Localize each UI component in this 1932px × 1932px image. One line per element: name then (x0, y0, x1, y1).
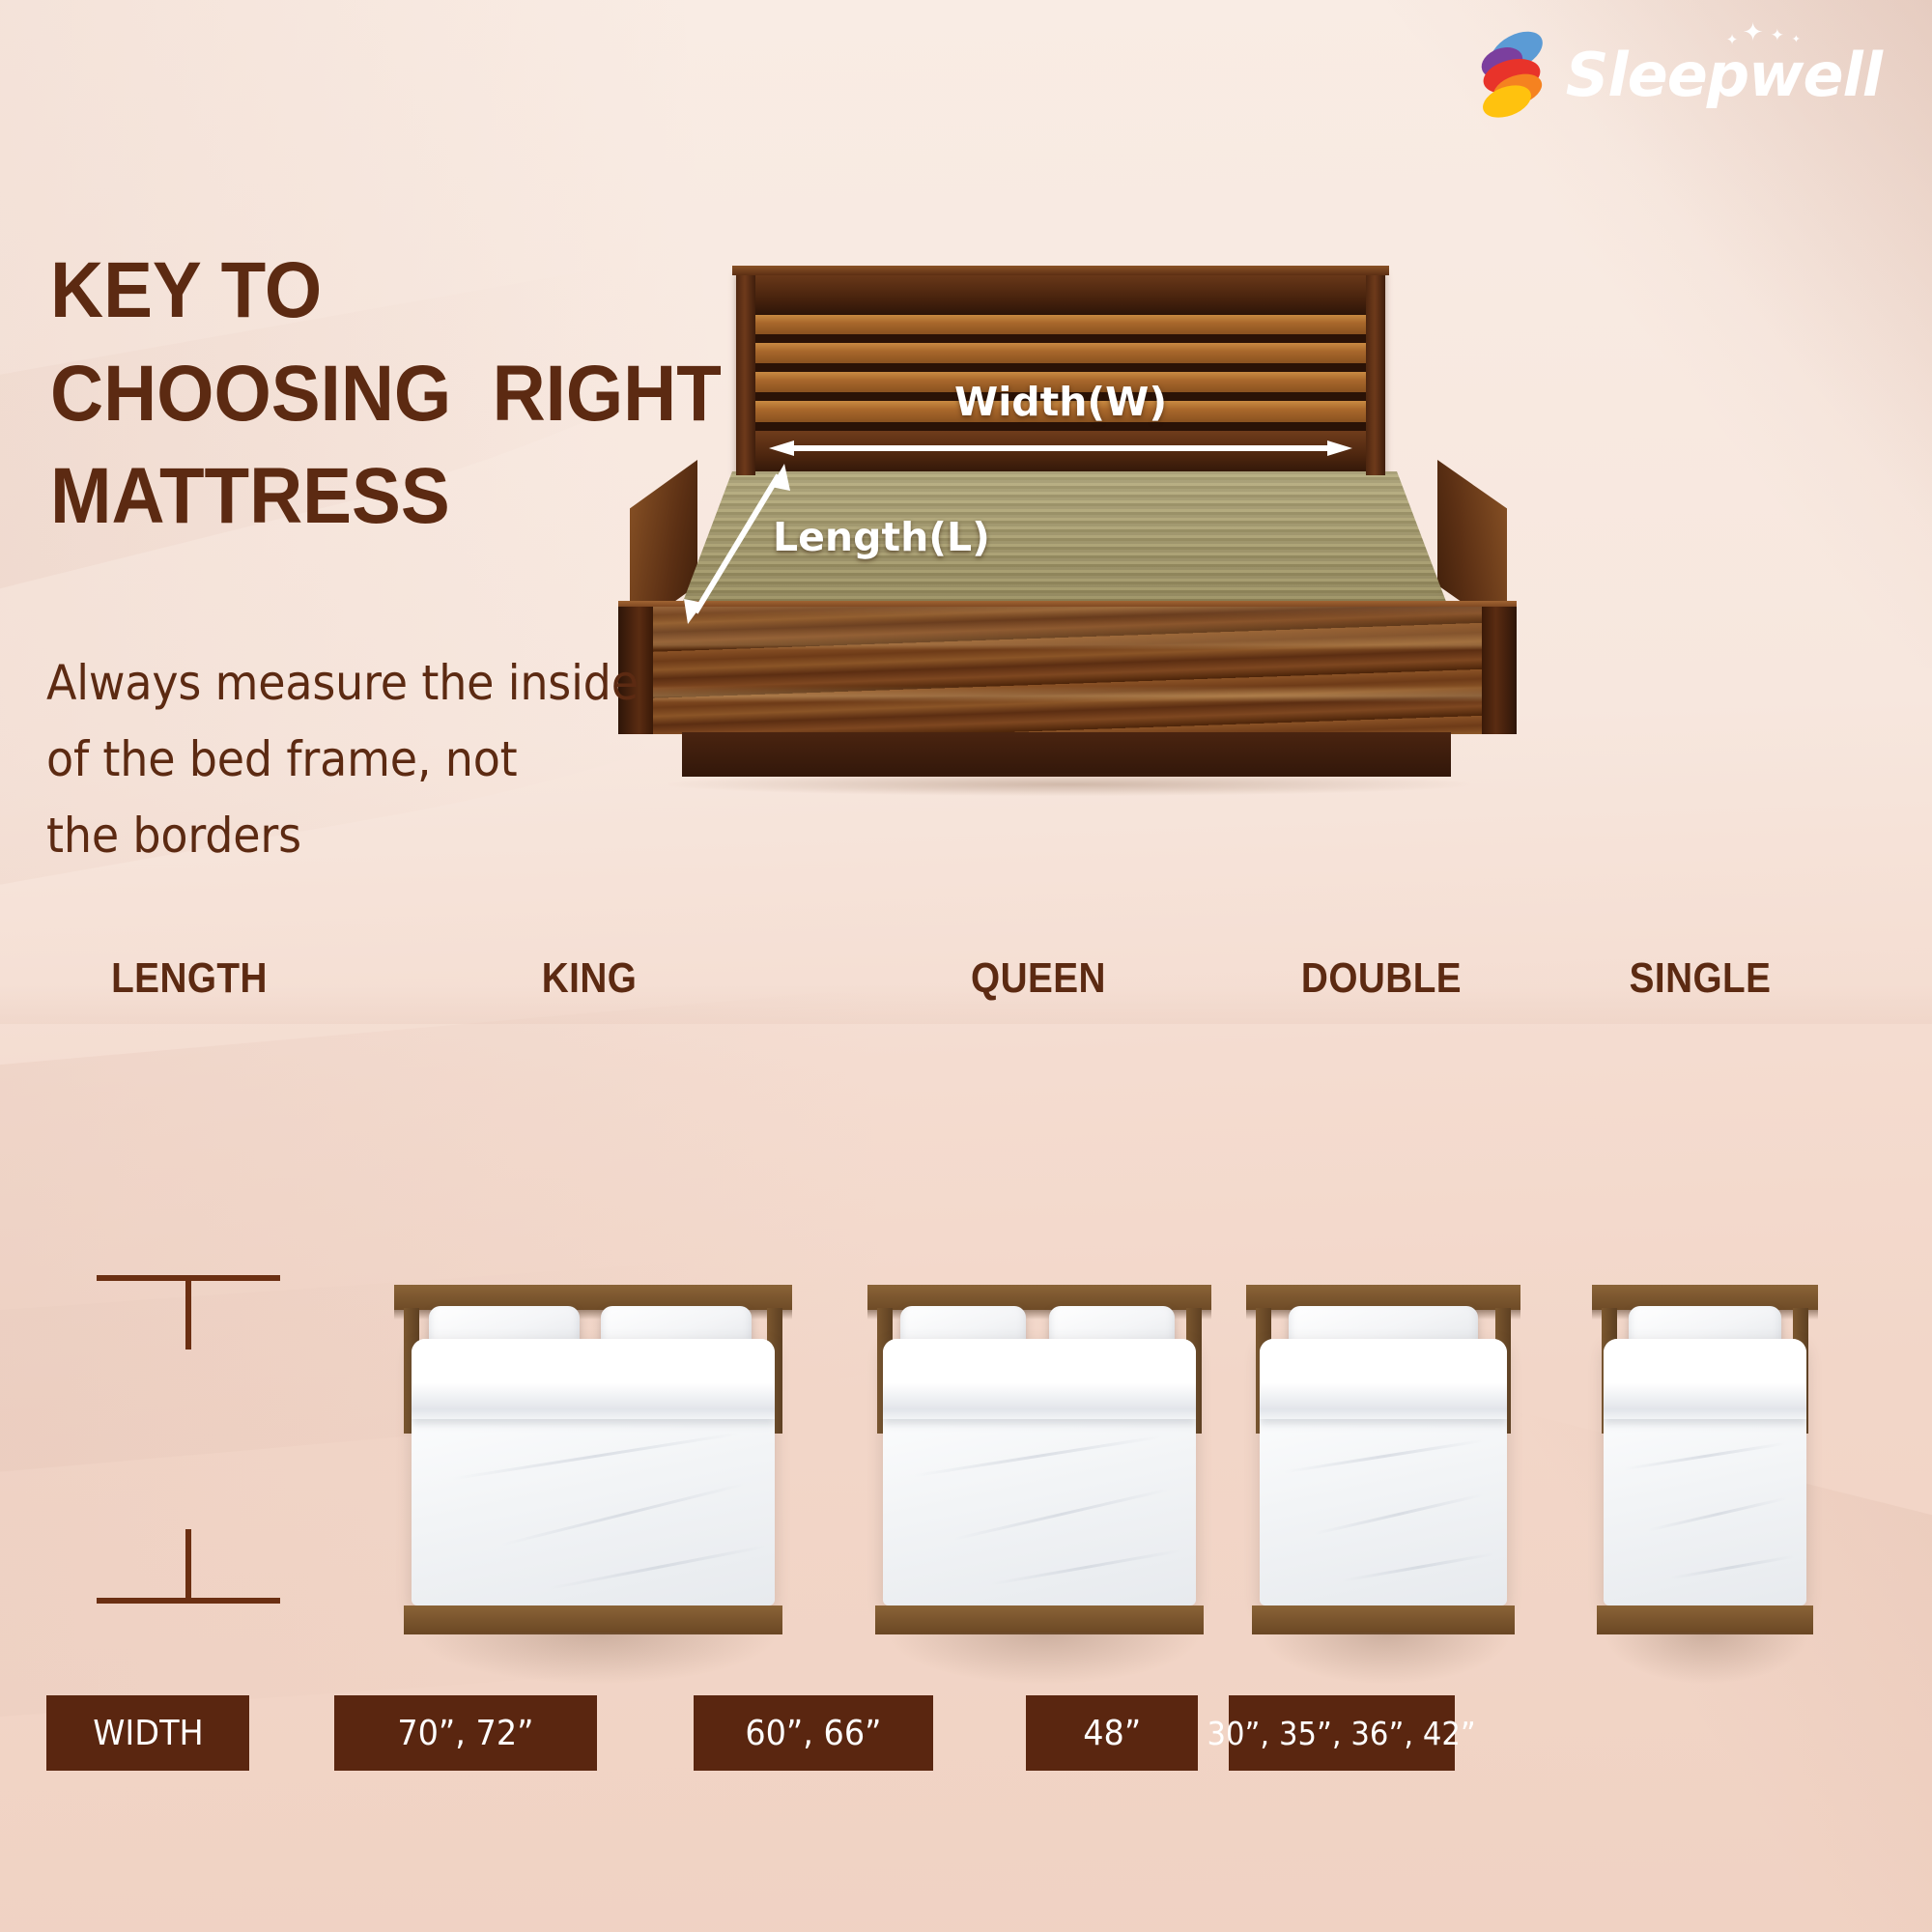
size-box-king-text: 70”, 72” (397, 1714, 533, 1753)
single-crease-2 (1648, 1496, 1788, 1531)
double-bed-shadow (1260, 1633, 1513, 1685)
headboard-post-left (736, 270, 755, 475)
page-subtitle: Always measure the inside of the bed fra… (46, 645, 639, 874)
double-duvet (1260, 1339, 1507, 1605)
logo-star-small-right-icon: ✦ (1792, 34, 1800, 44)
length-bracket-icon (77, 1275, 299, 1604)
single-crease-1 (1624, 1442, 1786, 1471)
queen-duvet (883, 1339, 1196, 1605)
headline-line-3: MATTRESS (50, 445, 722, 549)
width-dimension-label: Width(W) (954, 379, 1167, 425)
headline-line-1: KEY TO (50, 240, 722, 343)
queen-bed-shadow (885, 1633, 1204, 1685)
double-duvet-fold (1260, 1339, 1507, 1419)
size-box-single-text: 30”, 35”, 36”, 42” (1207, 1715, 1476, 1752)
bed-top-view-queen[interactable] (867, 1285, 1211, 1652)
queen-crease-2 (953, 1488, 1171, 1541)
infographic-canvas: Sleepwell ✦ ✦ ✦ ✦ KEY TO CHOOSING RIGHT … (0, 0, 1932, 1932)
hero-bed-illustration: Width(W) Length(L) (618, 270, 1517, 782)
king-crease-2 (501, 1483, 746, 1547)
width-arrow-icon (769, 440, 1352, 456)
headboard-top-cap (732, 266, 1389, 275)
brand-logo[interactable]: Sleepwell ✦ ✦ ✦ ✦ (1481, 33, 1882, 118)
mattress-size-chart: LENGTH KING QUEEN DOUBLE SINGLE 72” 75” … (0, 976, 1932, 1932)
king-duvet (412, 1339, 775, 1605)
bed-drop-shadow (668, 773, 1470, 796)
single-duvet-fold (1604, 1339, 1806, 1419)
logo-star-small-left-icon: ✦ (1726, 33, 1738, 47)
size-box-queen: 60”, 66” (694, 1695, 933, 1771)
bracket-bottom-bar (97, 1598, 280, 1604)
queen-crease-3 (990, 1549, 1180, 1586)
column-header-queen: QUEEN (881, 954, 1196, 1003)
column-header-king: KING (411, 954, 768, 1003)
sleepwell-swirl-logo-icon (1481, 33, 1545, 118)
brand-name: Sleepwell ✦ ✦ ✦ ✦ (1566, 45, 1882, 105)
bed-top-view-king[interactable] (394, 1285, 792, 1652)
single-bed-shadow (1604, 1633, 1810, 1685)
size-box-width-header-text: WIDTH (93, 1714, 203, 1753)
queen-crease-1 (913, 1435, 1161, 1478)
king-duvet-fold (412, 1339, 775, 1419)
double-crease-2 (1314, 1493, 1484, 1535)
headboard-gap-1 (755, 334, 1366, 343)
column-header-double: DOUBLE (1254, 954, 1509, 1003)
logo-star-large-icon: ✦ (1743, 20, 1763, 45)
bed-top-view-double[interactable] (1246, 1285, 1520, 1652)
subheadline-line-2: of the bed frame, not (46, 722, 639, 798)
footboard-edge-right (1482, 607, 1517, 734)
size-box-king: 70”, 72” (334, 1695, 597, 1771)
size-box-double: 48” (1026, 1695, 1198, 1771)
headline-line-2: CHOOSING RIGHT (50, 343, 722, 446)
double-crease-1 (1284, 1439, 1485, 1474)
king-crease-1 (452, 1433, 739, 1481)
queen-footboard-bar (875, 1605, 1204, 1634)
subheadline-line-1: Always measure the inside (46, 645, 639, 722)
size-box-single: 30”, 35”, 36”, 42” (1229, 1695, 1455, 1771)
size-box-double-text: 48” (1083, 1714, 1141, 1753)
single-duvet (1604, 1339, 1806, 1605)
headboard-slat-light-1 (755, 315, 1366, 334)
bed-top-view-single[interactable] (1592, 1285, 1818, 1652)
page-title: KEY TO CHOOSING RIGHT MATTRESS (50, 240, 722, 549)
king-bed-shadow (413, 1633, 781, 1685)
size-box-width-header: WIDTH (46, 1695, 249, 1771)
double-footboard-bar (1252, 1605, 1515, 1634)
headboard-gap-2 (755, 363, 1366, 372)
bed-plinth-base (682, 732, 1451, 777)
single-footboard-bar (1597, 1605, 1813, 1634)
column-header-length: LENGTH (62, 954, 317, 1003)
headboard-slat-dark-1 (755, 270, 1366, 315)
brand-name-text: Sleepwell (1566, 40, 1882, 110)
subheadline-line-3: the borders (46, 798, 639, 874)
king-footboard-bar (404, 1605, 782, 1634)
column-header-single: SINGLE (1590, 954, 1811, 1003)
length-dimension-label: Length(L) (773, 514, 990, 560)
headboard-post-right (1366, 270, 1385, 475)
single-crease-3 (1670, 1555, 1795, 1580)
headboard-slat-light-2 (755, 343, 1366, 363)
queen-duvet-fold (883, 1339, 1196, 1419)
bracket-bottom-stem (185, 1529, 191, 1601)
logo-star-medium-icon: ✦ (1771, 28, 1783, 44)
king-crease-3 (549, 1545, 767, 1590)
bracket-top-stem (185, 1278, 191, 1350)
double-crease-3 (1342, 1552, 1494, 1582)
size-box-queen-text: 60”, 66” (745, 1714, 881, 1753)
